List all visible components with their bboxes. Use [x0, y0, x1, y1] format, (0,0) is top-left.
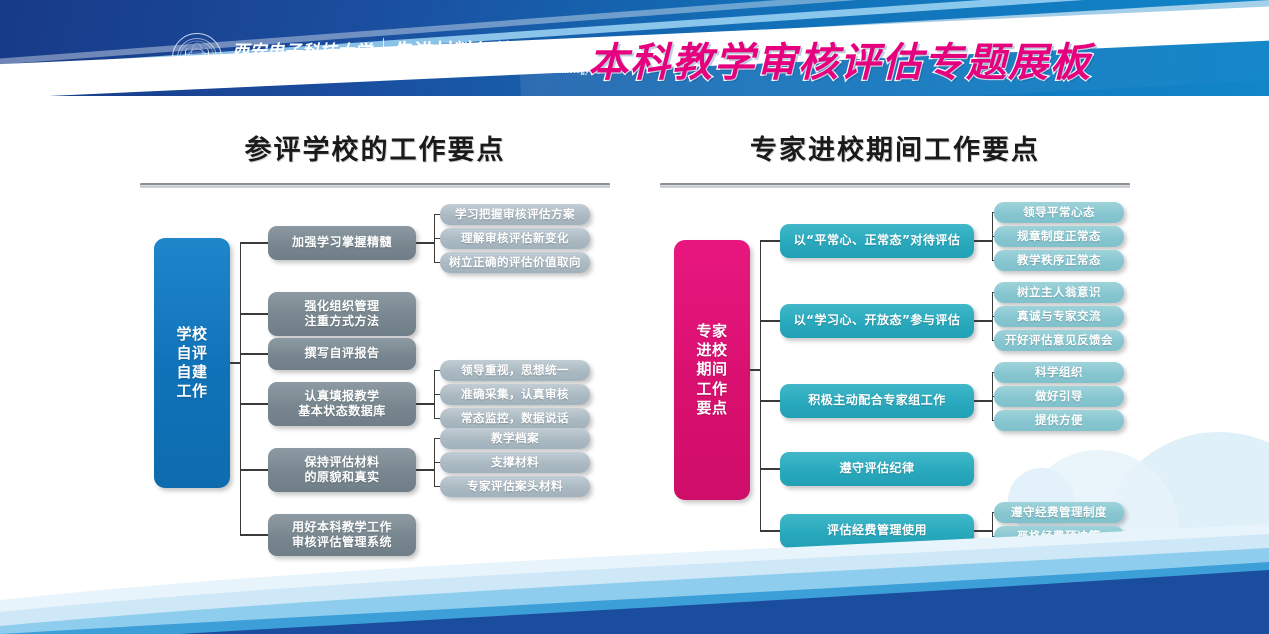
branch-label-line: 审核评估管理系统: [292, 535, 392, 550]
right-leaf-node: 规章制度正常态: [994, 226, 1124, 247]
left-main-spine: [240, 243, 241, 535]
branch-label-line: 用好本科教学工作: [292, 520, 392, 535]
left-branch-connector: [240, 469, 268, 470]
branch-label-line: 注重方式方法: [304, 314, 379, 329]
left-root-line: 工作: [176, 382, 207, 401]
right-branch-node: 遵守评估纪律: [780, 452, 974, 486]
brand-lockup: 西安电子科技大学 XIDIAN UNIVERSITY 先进材料与纳米科技学院 S…: [172, 32, 615, 84]
brand-divider: [383, 38, 384, 78]
right-leaf-trunk: [974, 530, 992, 531]
right-leaf-node: 领导平常心态: [994, 202, 1124, 223]
school-name-cn: 先进材料与纳米科技学院: [395, 41, 615, 63]
right-leaf-spine: [992, 213, 993, 261]
left-branch-connector: [240, 242, 268, 243]
left-branch-connector: [240, 403, 268, 404]
right-leaf-trunk: [974, 320, 992, 321]
right-branch-connector: [760, 240, 780, 241]
right-root-line: 要点: [696, 399, 727, 418]
right-branch-node: 以“平常心、正常态”对待评估: [780, 224, 974, 258]
right-leaf-node: 提供方便: [994, 410, 1124, 431]
right-branch-connector: [760, 468, 780, 469]
school-name-en: School of Advanced Materials and Nanotec…: [395, 65, 615, 75]
left-leaf-node: 学习把握审核评估方案: [440, 204, 590, 225]
right-root-line: 专家: [696, 322, 727, 341]
left-root-line: 自建: [176, 363, 207, 382]
right-branch-node: 评估经费管理使用: [780, 514, 974, 548]
university-seal-icon: [172, 33, 222, 83]
left-mindmap: 学校自评自建工作加强学习掌握精髓学习把握审核评估方案理解审核评估新变化树立正确的…: [140, 180, 620, 570]
right-leaf-trunk: [974, 400, 992, 401]
poster-title: 本科教学审核评估专题展板: [588, 30, 1092, 88]
right-leaf-node: 真诚与专家交流: [994, 306, 1124, 327]
left-branch-node: 认真填报教学基本状态数据库: [268, 382, 416, 426]
right-root-line: 工作: [696, 380, 727, 399]
left-branch-connector: [240, 353, 268, 354]
right-leaf-node: 做好引导: [994, 386, 1124, 407]
right-leaf-node: 树立主人翁意识: [994, 282, 1124, 303]
left-branch-connector: [240, 534, 268, 535]
page-header: 西安电子科技大学 XIDIAN UNIVERSITY 先进材料与纳米科技学院 S…: [0, 0, 1269, 96]
left-branch-node: 用好本科教学工作审核评估管理系统: [268, 514, 416, 556]
left-branch-node: 保持评估材料的原貌和真实: [268, 448, 416, 492]
branch-label-line: 评估经费管理使用: [827, 523, 927, 538]
right-leaf-node: 教学秩序正常态: [994, 250, 1124, 271]
left-leaf-node: 领导重视，思想统一: [440, 360, 590, 381]
left-leaf-trunk: [416, 403, 434, 404]
right-leaf-node: 科学组织: [994, 362, 1124, 383]
left-root-node: 学校自评自建工作: [154, 238, 230, 488]
right-root-line: 进校: [696, 341, 727, 360]
poster-canvas: 西安电子科技大学 XIDIAN UNIVERSITY 先进材料与纳米科技学院 S…: [0, 0, 1269, 634]
left-leaf-node: 准确采集，认真审核: [440, 384, 590, 405]
right-leaf-node: 严格经费预决算: [994, 526, 1124, 547]
school-name-block: 先进材料与纳米科技学院 School of Advanced Materials…: [395, 41, 615, 76]
right-branch-node: 以“学习心、开放态”参与评估: [780, 304, 974, 338]
branch-label-line: 保持评估材料: [304, 455, 379, 470]
left-section-title: 参评学校的工作要点: [140, 128, 610, 167]
branch-label-line: 撰写自评报告: [304, 346, 379, 361]
left-leaf-spine: [434, 439, 435, 487]
left-branch-connector: [240, 313, 268, 314]
right-root-stub: [750, 369, 760, 370]
left-root-stub: [230, 362, 240, 363]
left-leaf-node: 树立正确的评估价值取向: [440, 252, 590, 273]
right-leaf-node: 遵守经费管理制度: [994, 502, 1124, 523]
right-mindmap: 专家进校期间工作要点以“平常心、正常态”对待评估领导平常心态规章制度正常态教学秩…: [660, 180, 1140, 570]
branch-label-line: 的原貌和真实: [304, 470, 379, 485]
left-leaf-node: 教学档案: [440, 428, 590, 449]
university-name-block: 西安电子科技大学 XIDIAN UNIVERSITY: [232, 43, 372, 74]
left-leaf-node: 理解审核评估新变化: [440, 228, 590, 249]
right-branch-node: 积极主动配合专家组工作: [780, 384, 974, 418]
right-leaf-trunk: [974, 240, 992, 241]
branch-label-line: 强化组织管理: [304, 299, 379, 314]
right-leaf-spine: [992, 373, 993, 421]
right-leaf-spine: [992, 513, 993, 537]
branch-label-line: 认真填报教学: [304, 389, 379, 404]
left-branch-node: 撰写自评报告: [268, 338, 416, 370]
left-leaf-spine: [434, 371, 435, 419]
university-name-en: XIDIAN UNIVERSITY: [232, 63, 372, 73]
branch-label-line: 以“平常心、正常态”对待评估: [794, 233, 961, 248]
left-column-head: 参评学校的工作要点: [140, 128, 610, 188]
university-name-cn: 西安电子科技大学: [232, 43, 372, 62]
right-section-title: 专家进校期间工作要点: [660, 128, 1130, 167]
left-leaf-trunk: [416, 469, 434, 470]
seal-detail-icon: [173, 34, 221, 82]
branch-label-line: 遵守评估纪律: [839, 461, 914, 476]
right-leaf-spine: [992, 293, 993, 341]
left-leaf-spine: [434, 215, 435, 263]
left-branch-node: 强化组织管理注重方式方法: [268, 292, 416, 336]
branch-label-line: 加强学习掌握精髓: [292, 235, 392, 250]
right-branch-connector: [760, 400, 780, 401]
left-root-line: 自评: [176, 344, 207, 363]
left-leaf-node: 支撑材料: [440, 452, 590, 473]
right-leaf-node: 开好评估意见反馈会: [994, 330, 1124, 351]
left-leaf-trunk: [416, 242, 434, 243]
branch-label-line: 基本状态数据库: [298, 404, 386, 419]
left-root-line: 学校: [176, 325, 207, 344]
left-leaf-node: 常态监控，数据说话: [440, 408, 590, 429]
right-root-node: 专家进校期间工作要点: [674, 240, 750, 500]
right-column-head: 专家进校期间工作要点: [660, 128, 1130, 188]
right-main-spine: [760, 241, 761, 531]
branch-label-line: 积极主动配合专家组工作: [808, 393, 946, 408]
right-branch-connector: [760, 320, 780, 321]
right-root-line: 期间: [696, 360, 727, 379]
left-leaf-node: 专家评估案头材料: [440, 476, 590, 497]
branch-label-line: 以“学习心、开放态”参与评估: [794, 313, 961, 328]
right-branch-connector: [760, 530, 780, 531]
left-branch-node: 加强学习掌握精髓: [268, 226, 416, 260]
